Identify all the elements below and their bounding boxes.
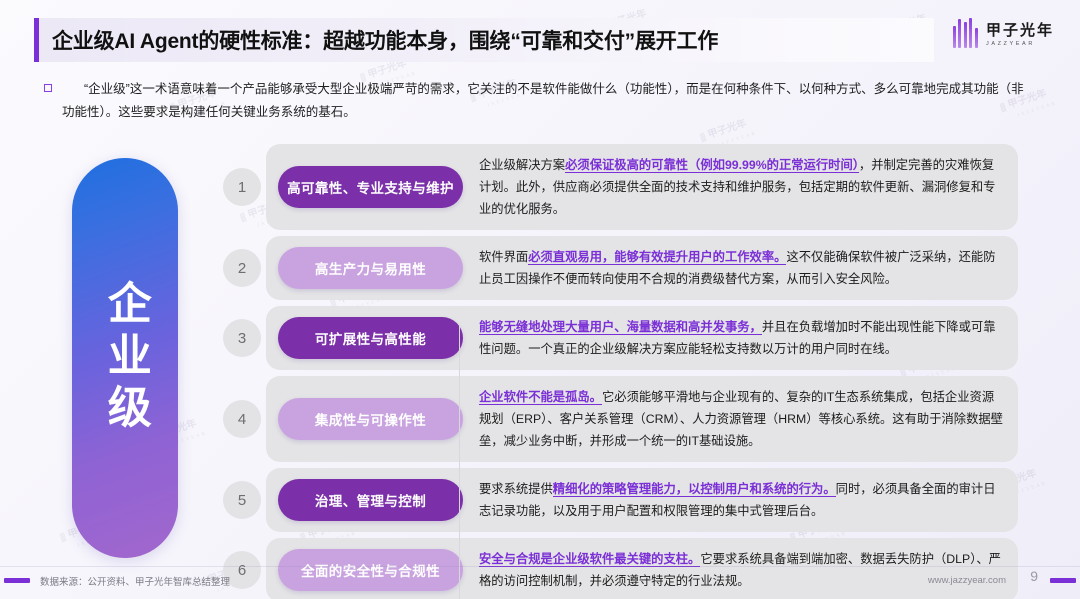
criteria-row: 5治理、管理与控制要求系统提供精细化的策略管理能力，以控制用户和系统的行为。同时… — [218, 468, 1018, 532]
title-accent-bar — [34, 18, 39, 62]
footer-mark-left — [4, 578, 30, 583]
description-highlight: 企业软件不能是孤岛。 — [479, 390, 602, 405]
brand-logo: 甲子光年 JAZZYEAR — [953, 18, 1054, 48]
criteria-row-body: 全面的安全性与合规性安全与合规是企业级软件最关键的支柱。它要求系统具备端到端加密… — [266, 538, 1018, 599]
criteria-pill[interactable]: 全面的安全性与合规性 — [278, 549, 463, 591]
description-prefix: 软件界面 — [479, 250, 528, 264]
footer-url: www.jazzyear.com — [928, 575, 1006, 586]
criteria-row-number: 1 — [218, 168, 266, 206]
criteria-row-number: 5 — [218, 481, 266, 519]
criteria-description: 能够无缝地处理大量用户、海量数据和高并发事务，并且在负载增加时不能出现性能下降或… — [479, 316, 1004, 360]
criteria-row: 1高可靠性、专业支持与维护企业级解决方案必须保证极高的可靠性（例如99.99%的… — [218, 144, 1018, 230]
criteria-row-number: 2 — [218, 249, 266, 287]
description-highlight: 安全与合规是企业级软件最关键的支柱。 — [479, 552, 700, 567]
logo-bars-icon — [953, 18, 978, 48]
intro-text: “企业级”这一术语意味着一个产品能够承受大型企业极端严苛的需求，它关注的不是软件… — [62, 78, 1024, 124]
criteria-row-body: 治理、管理与控制要求系统提供精细化的策略管理能力，以控制用户和系统的行为。同时，… — [266, 468, 1018, 532]
criteria-row-body: 高生产力与易用性软件界面必须直观易用，能够有效提升用户的工作效率。这不仅能确保软… — [266, 236, 1018, 300]
description-prefix: 企业级解决方案 — [479, 158, 565, 172]
side-category-pill: 企业级 — [72, 158, 178, 558]
criteria-description: 企业软件不能是孤岛。它必须能够平滑地与企业现有的、复杂的IT生态系统集成，包括企… — [479, 386, 1004, 452]
criteria-description: 软件界面必须直观易用，能够有效提升用户的工作效率。这不仅能确保软件被广泛采纳，还… — [479, 246, 1004, 290]
description-highlight: 必须直观易用，能够有效提升用户的工作效率。 — [528, 250, 786, 265]
criteria-row: 2高生产力与易用性软件界面必须直观易用，能够有效提升用户的工作效率。这不仅能确保… — [218, 236, 1018, 300]
timeline-connector — [459, 326, 460, 599]
page-title: 企业级AI Agent的硬性标准：超越功能本身，围绕“可靠和交付”展开工作 — [52, 25, 718, 55]
criteria-row: 6全面的安全性与合规性安全与合规是企业级软件最关键的支柱。它要求系统具备端到端加… — [218, 538, 1018, 599]
description-highlight: 精细化的策略管理能力，以控制用户和系统的行为。 — [553, 482, 836, 497]
criteria-row: 3可扩展性与高性能能够无缝地处理大量用户、海量数据和高并发事务，并且在负载增加时… — [218, 306, 1018, 370]
criteria-pill[interactable]: 可扩展性与高性能 — [278, 317, 463, 359]
description-prefix: 要求系统提供 — [479, 482, 553, 496]
footer-divider — [0, 566, 1080, 567]
side-category-label: 企业级 — [101, 280, 149, 436]
description-highlight: 能够无缝地处理大量用户、海量数据和高并发事务， — [479, 320, 762, 335]
criteria-description: 安全与合规是企业级软件最关键的支柱。它要求系统具备端到端加密、数据丢失防护（DL… — [479, 548, 1004, 592]
logo-title-en: JAZZYEAR — [986, 41, 1054, 47]
footer-source: 数据来源：公开资料、甲子光年智库总结整理 — [40, 574, 230, 588]
criteria-pill[interactable]: 高可靠性、专业支持与维护 — [278, 166, 463, 208]
criteria-pill[interactable]: 治理、管理与控制 — [278, 479, 463, 521]
criteria-pill[interactable]: 集成性与可操作性 — [278, 398, 463, 440]
criteria-list: 1高可靠性、专业支持与维护企业级解决方案必须保证极高的可靠性（例如99.99%的… — [218, 144, 1018, 599]
number-badge: 1 — [223, 168, 261, 206]
criteria-row-number: 4 — [218, 400, 266, 438]
footer-mark-right — [1050, 578, 1076, 583]
logo-title-cn: 甲子光年 — [986, 19, 1054, 40]
criteria-row-number: 3 — [218, 319, 266, 357]
criteria-row-body: 高可靠性、专业支持与维护企业级解决方案必须保证极高的可靠性（例如99.99%的正… — [266, 144, 1018, 230]
number-badge: 4 — [223, 400, 261, 438]
bullet-square-icon — [44, 84, 52, 92]
criteria-pill[interactable]: 高生产力与易用性 — [278, 247, 463, 289]
number-badge: 2 — [223, 249, 261, 287]
criteria-row-body: 可扩展性与高性能能够无缝地处理大量用户、海量数据和高并发事务，并且在负载增加时不… — [266, 306, 1018, 370]
criteria-description: 要求系统提供精细化的策略管理能力，以控制用户和系统的行为。同时，必须具备全面的审… — [479, 478, 1004, 522]
criteria-description: 企业级解决方案必须保证极高的可靠性（例如99.99%的正常运行时间），并制定完善… — [479, 154, 1004, 220]
description-highlight: 必须保证极高的可靠性（例如99.99%的正常运行时间） — [565, 158, 859, 173]
page-title-band: 企业级AI Agent的硬性标准：超越功能本身，围绕“可靠和交付”展开工作 — [34, 18, 934, 62]
intro-paragraph: “企业级”这一术语意味着一个产品能够承受大型企业极端严苛的需求，它关注的不是软件… — [44, 78, 1024, 124]
number-badge: 3 — [223, 319, 261, 357]
criteria-row-body: 集成性与可操作性企业软件不能是孤岛。它必须能够平滑地与企业现有的、复杂的IT生态… — [266, 376, 1018, 462]
number-badge: 5 — [223, 481, 261, 519]
criteria-row: 4集成性与可操作性企业软件不能是孤岛。它必须能够平滑地与企业现有的、复杂的IT生… — [218, 376, 1018, 462]
footer-page-number: 9 — [1030, 568, 1038, 584]
